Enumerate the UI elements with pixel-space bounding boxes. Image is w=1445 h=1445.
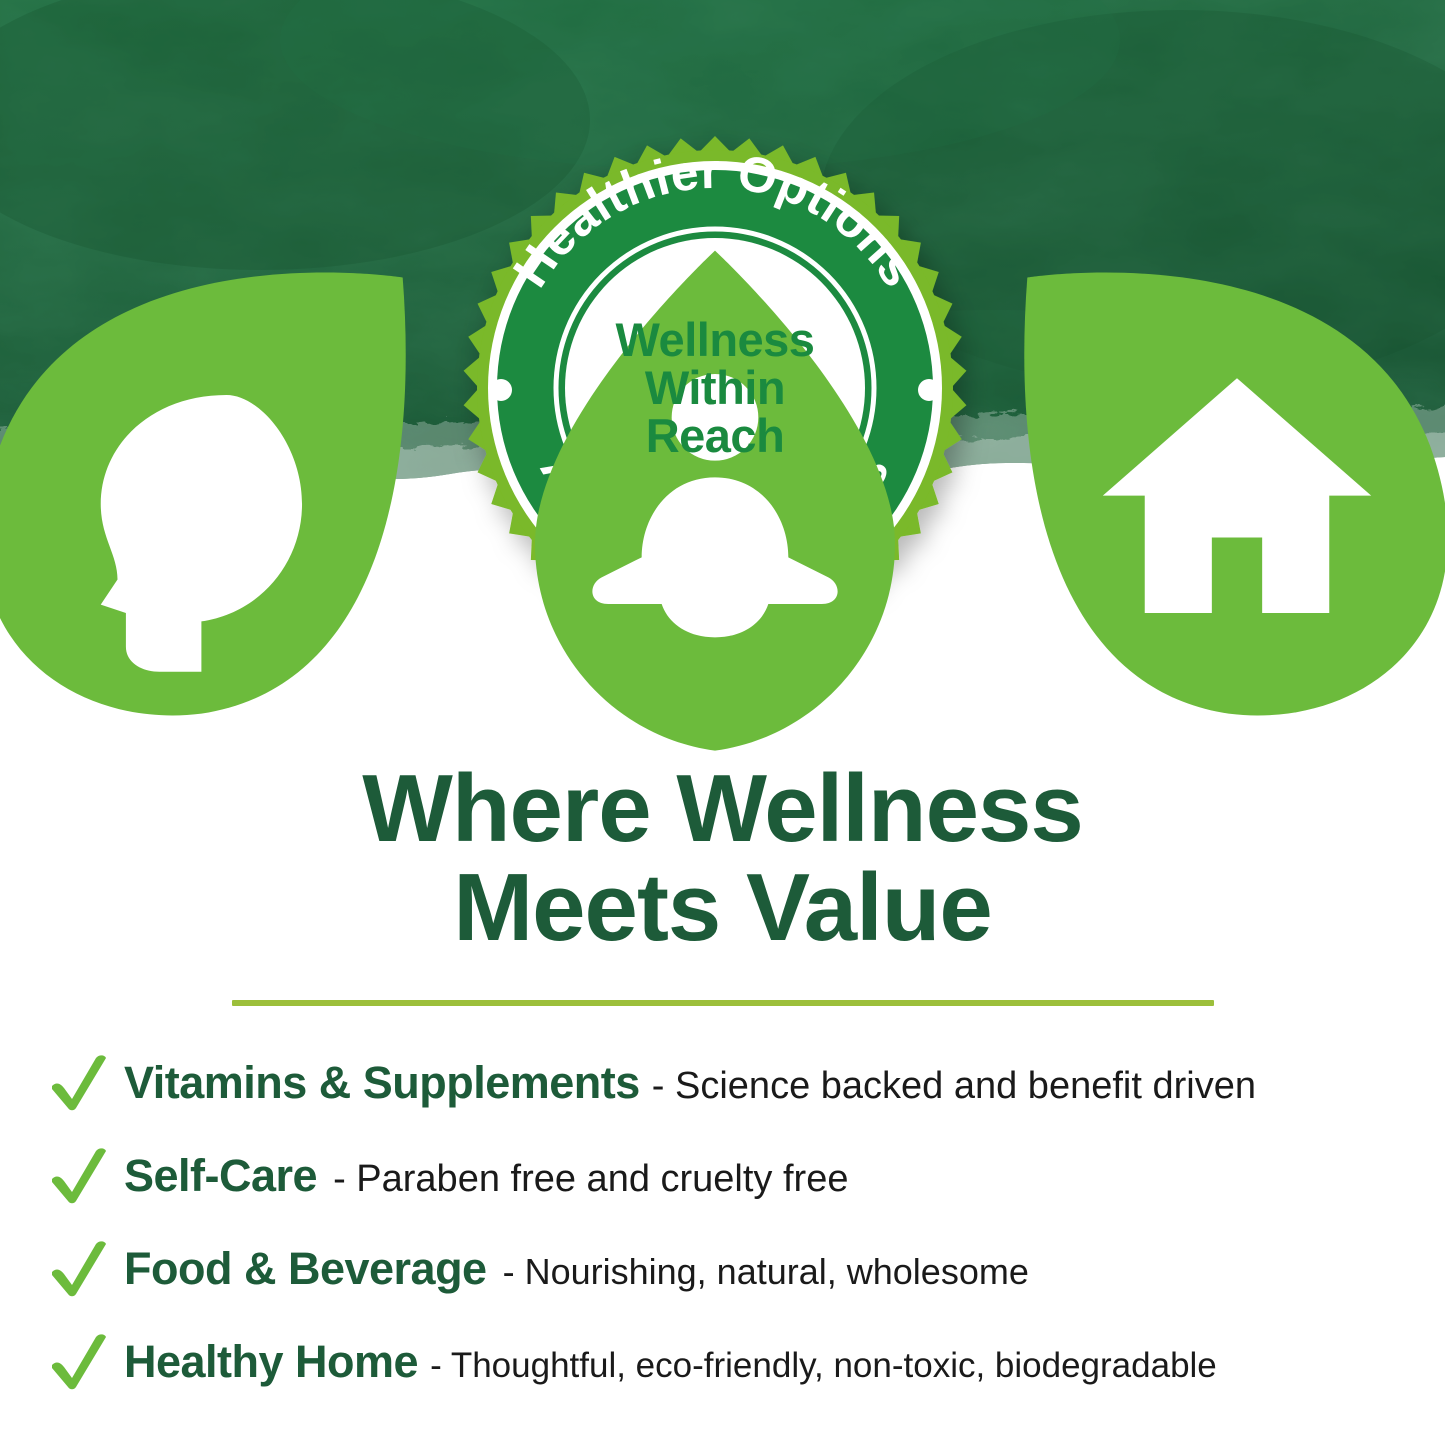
list-item-title: Healthy Home (124, 1336, 418, 1388)
list-item-title: Food & Beverage (124, 1243, 487, 1295)
list-item: Healthy Home - Thoughtful, eco-friendly,… (48, 1315, 1438, 1408)
list-item-desc: - Thoughtful, eco-friendly, non-toxic, b… (430, 1346, 1217, 1386)
list-item: Food & Beverage - Nourishing, natural, w… (48, 1222, 1438, 1315)
badge-separator-dot-left (490, 379, 512, 401)
list-item: Vitamins & Supplements - Science backed … (48, 1036, 1438, 1129)
check-mark-icon (48, 1240, 124, 1298)
wellness-within-reach-badge: Healthier Options At Your Fingertips (455, 128, 975, 648)
list-item-desc: - Nourishing, natural, wholesome (503, 1251, 1029, 1293)
badge-separator-dot-right (918, 379, 940, 401)
headline-line-1: Where Wellness (0, 760, 1445, 859)
check-mark-icon (48, 1054, 124, 1112)
headline-divider (232, 1000, 1214, 1006)
list-item: Self-Care - Paraben free and cruelty fre… (48, 1129, 1438, 1222)
list-item-title: Self-Care (124, 1150, 317, 1202)
page-title: Where Wellness Meets Value (0, 760, 1445, 958)
list-item-desc: - Paraben free and cruelty free (333, 1158, 848, 1201)
headline-line-2: Meets Value (0, 859, 1445, 958)
check-mark-icon (48, 1147, 124, 1205)
list-item-desc: - Science backed and benefit driven (652, 1065, 1256, 1108)
list-item-title: Vitamins & Supplements (124, 1057, 640, 1109)
feature-list: Vitamins & Supplements - Science backed … (48, 1036, 1438, 1408)
check-mark-icon (48, 1333, 124, 1391)
